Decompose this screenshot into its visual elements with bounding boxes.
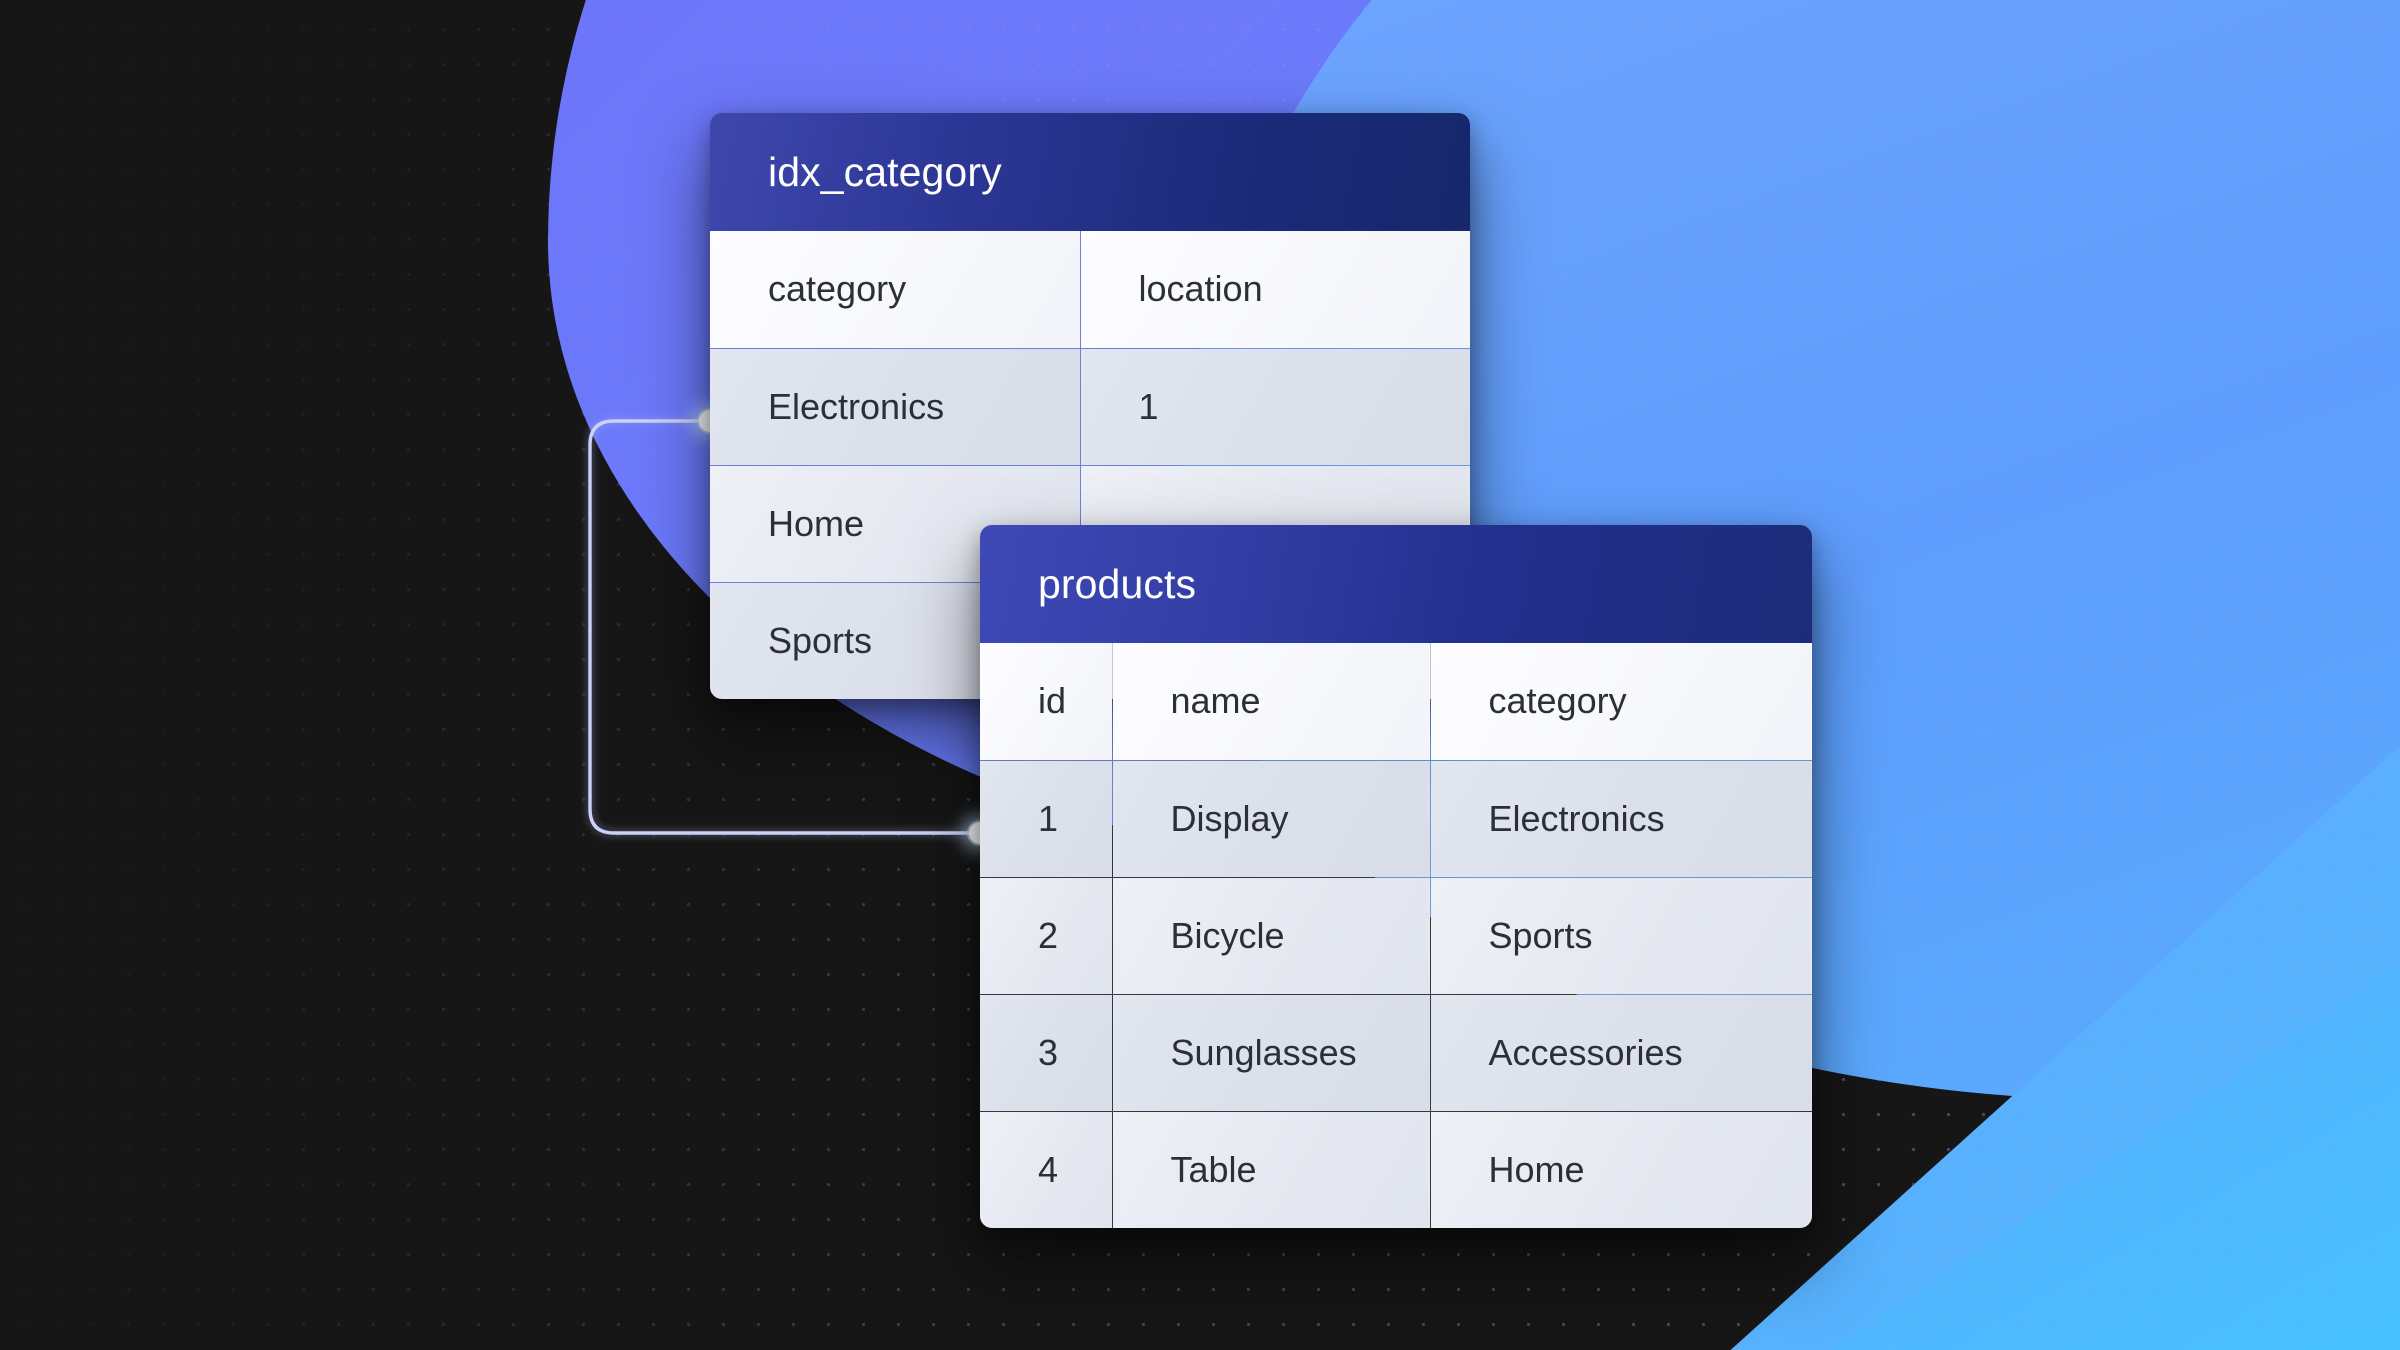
table-row[interactable]: 2 Bicycle Sports xyxy=(980,877,1812,994)
products-column-header-id: id xyxy=(980,643,1112,760)
products-column-header-name: name xyxy=(1112,643,1430,760)
products-cell-name: Sunglasses xyxy=(1112,994,1430,1111)
products-cell-category: Home xyxy=(1430,1111,1812,1228)
products-cell-id: 1 xyxy=(980,760,1112,877)
products-cell-name: Table xyxy=(1112,1111,1430,1228)
products-table-title: products xyxy=(980,525,1812,643)
index-cell-category: Electronics xyxy=(710,348,1080,465)
products-table-card[interactable]: products id name category 1 Display Elec… xyxy=(980,525,1812,1228)
products-cell-category: Accessories xyxy=(1430,994,1812,1111)
products-cell-id: 2 xyxy=(980,877,1112,994)
table-row[interactable]: 4 Table Home xyxy=(980,1111,1812,1228)
index-cell-location: 1 xyxy=(1080,348,1470,465)
table-row[interactable]: 1 Display Electronics xyxy=(980,760,1812,877)
products-cell-category: Electronics xyxy=(1430,760,1812,877)
products-table-grid: id name category 1 Display Electronics 2… xyxy=(980,643,1812,1228)
index-column-header-category: category xyxy=(710,231,1080,348)
products-column-header-category: category xyxy=(1430,643,1812,760)
table-row[interactable]: 3 Sunglasses Accessories xyxy=(980,994,1812,1111)
table-row[interactable]: Electronics 1 xyxy=(710,348,1470,465)
products-table-header-row: id name category xyxy=(980,643,1812,760)
products-cell-name: Bicycle xyxy=(1112,877,1430,994)
products-cell-category: Sports xyxy=(1430,877,1812,994)
index-table-header-row: category location xyxy=(710,231,1470,348)
index-column-header-location: location xyxy=(1080,231,1470,348)
products-cell-id: 3 xyxy=(980,994,1112,1111)
products-cell-name: Display xyxy=(1112,760,1430,877)
index-table-title: idx_category xyxy=(710,113,1470,231)
products-cell-id: 4 xyxy=(980,1111,1112,1228)
